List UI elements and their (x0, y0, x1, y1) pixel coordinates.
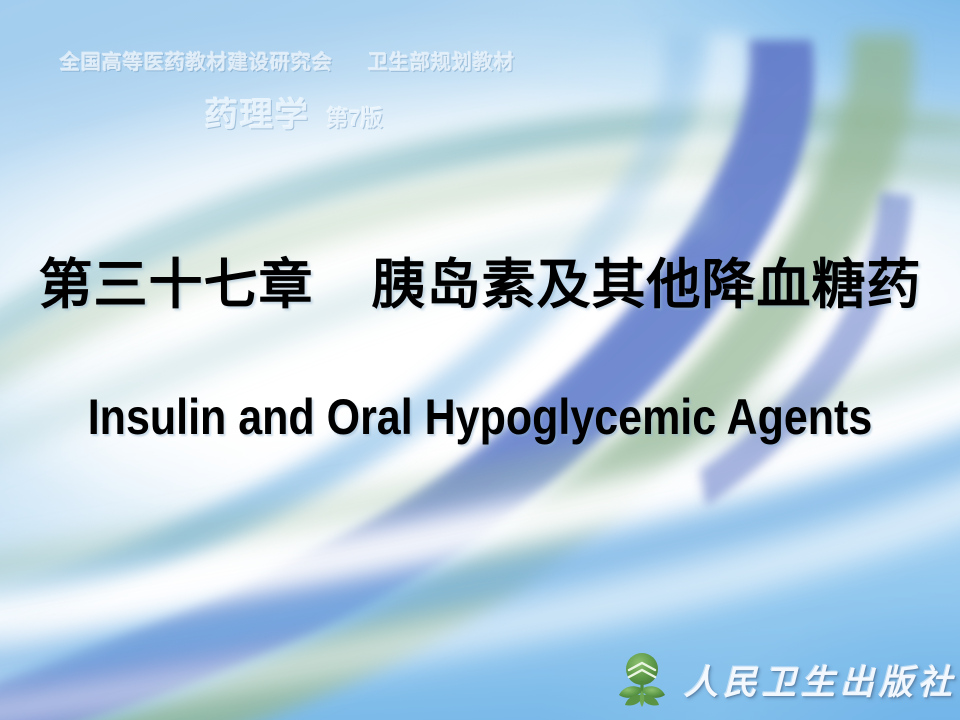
publisher-logo: 人民卫生出版社 (612, 648, 957, 710)
decorative-swoosh-group (0, 0, 960, 720)
leaf-book-emblem-icon (612, 648, 672, 710)
chapter-name-label: 胰岛素及其他降血糖药 (372, 255, 922, 315)
publisher-name-text: 人民卫生出版社 (684, 655, 957, 704)
chapter-subtitle-english: Insulin and Oral Hypoglycemic Agents (67, 388, 893, 446)
chapter-title-chinese: 第三十七章 胰岛素及其他降血糖药 (0, 240, 960, 319)
slide-canvas: 全国高等医药教材建设研究会 卫生部规划教材 药理学 第7版 第三十七章 胰岛素及… (0, 0, 960, 720)
chapter-number-label: 第三十七章 (38, 255, 313, 315)
